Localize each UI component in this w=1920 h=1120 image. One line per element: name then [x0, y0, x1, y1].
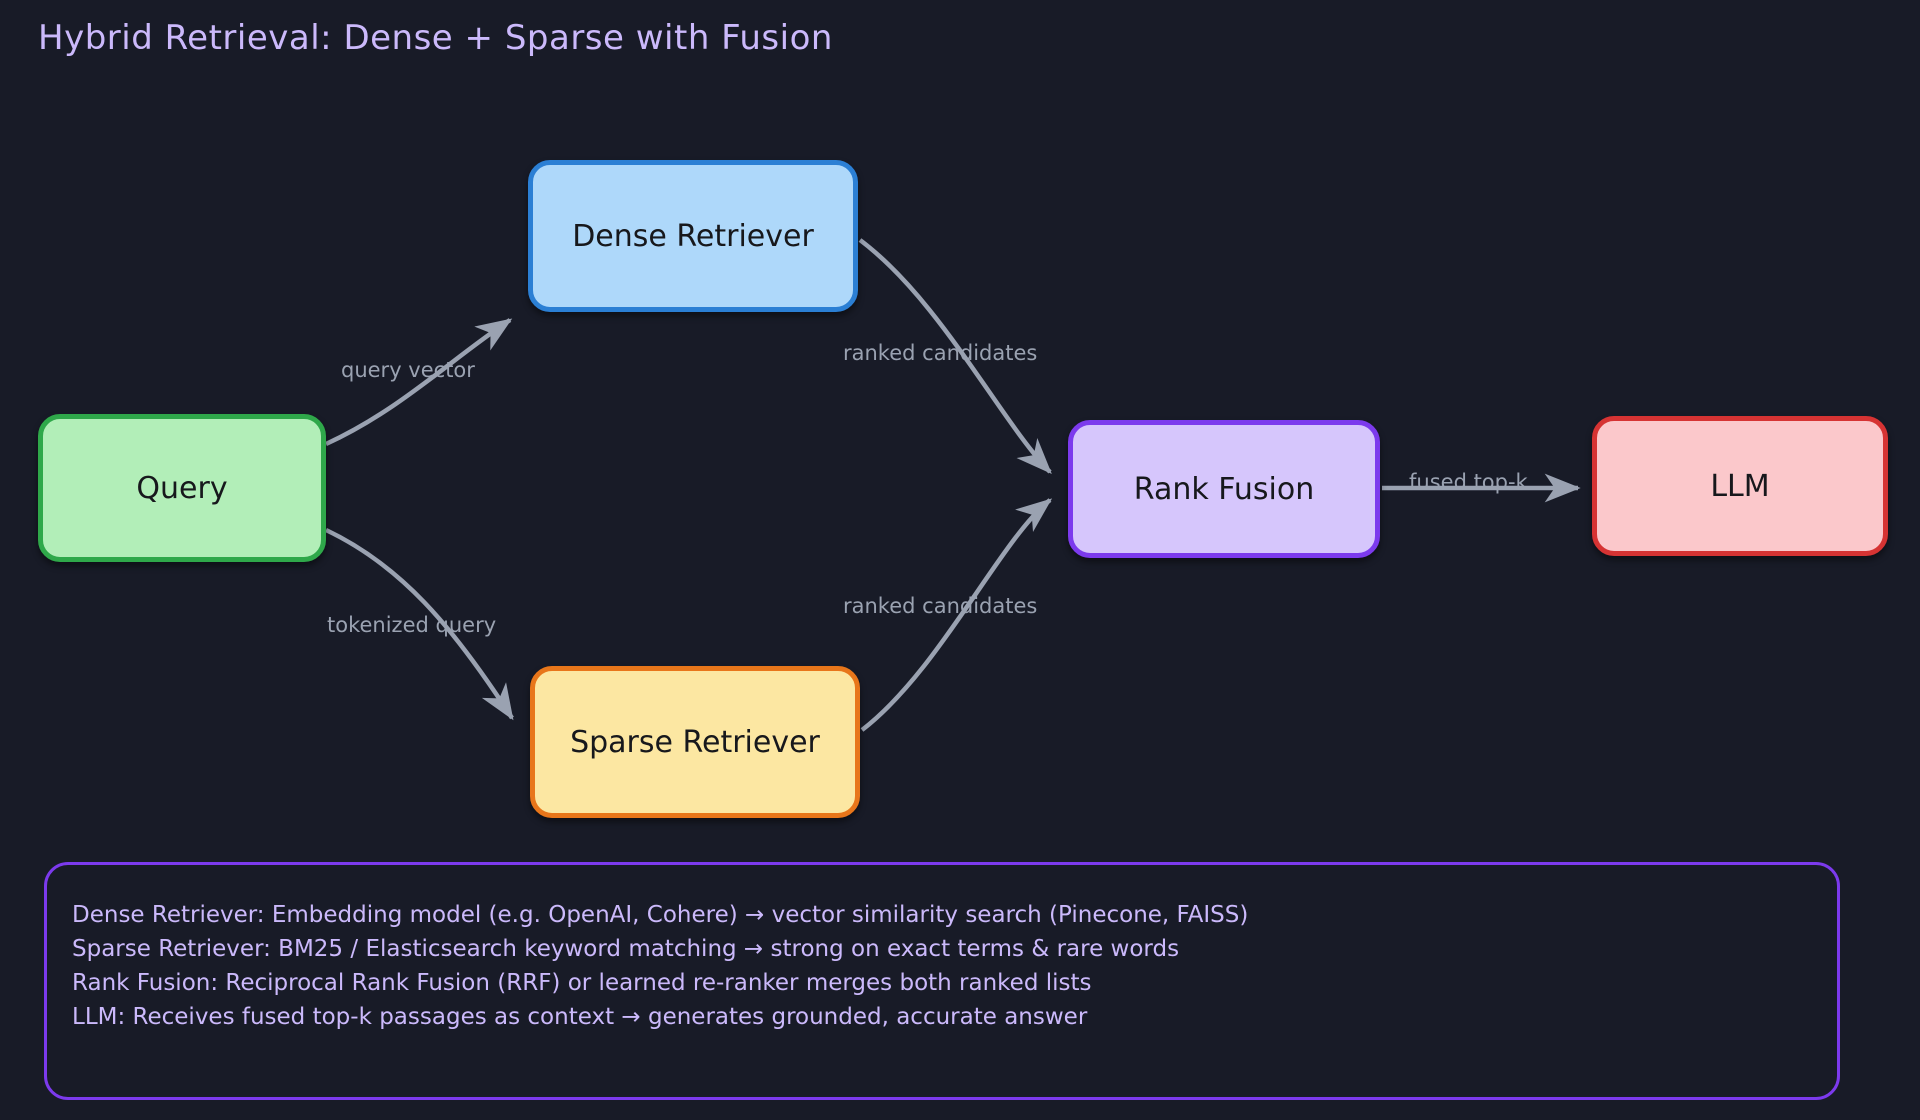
- node-llm[interactable]: LLM: [1592, 416, 1888, 556]
- legend-line-rank-fusion: Rank Fusion: Reciprocal Rank Fusion (RRF…: [72, 966, 1772, 1000]
- node-sparse-retriever[interactable]: Sparse Retriever: [530, 666, 860, 818]
- node-llm-label: LLM: [1710, 470, 1769, 503]
- node-sparse-retriever-label: Sparse Retriever: [570, 726, 820, 759]
- legend-text-group: Dense Retriever: Embedding model (e.g. O…: [72, 898, 1772, 1034]
- node-query-label: Query: [136, 472, 227, 505]
- diagram-canvas: Hybrid Retrieval: Dense + Sparse with Fu…: [0, 0, 1920, 1120]
- page-title: Hybrid Retrieval: Dense + Sparse with Fu…: [38, 18, 833, 58]
- node-dense-retriever-label: Dense Retriever: [572, 220, 814, 253]
- edge-label-tokenized-query: tokenized query: [327, 613, 496, 637]
- legend-line-llm: LLM: Receives fused top-k passages as co…: [72, 1000, 1772, 1034]
- edge-label-ranked-candidates-dense: ranked candidates: [843, 341, 1037, 365]
- legend-line-dense-retriever: Dense Retriever: Embedding model (e.g. O…: [72, 898, 1772, 932]
- node-rank-fusion[interactable]: Rank Fusion: [1068, 420, 1380, 558]
- edge-query-to-dense: [326, 320, 510, 444]
- node-rank-fusion-label: Rank Fusion: [1134, 473, 1314, 506]
- edge-label-ranked-candidates-sparse: ranked candidates: [843, 594, 1037, 618]
- edge-label-fused-top-k: fused top-k: [1409, 470, 1528, 494]
- edge-label-query-vector: query vector: [341, 358, 475, 382]
- node-query[interactable]: Query: [38, 414, 326, 562]
- legend-line-sparse-retriever: Sparse Retriever: BM25 / Elasticsearch k…: [72, 932, 1772, 966]
- node-dense-retriever[interactable]: Dense Retriever: [528, 160, 858, 312]
